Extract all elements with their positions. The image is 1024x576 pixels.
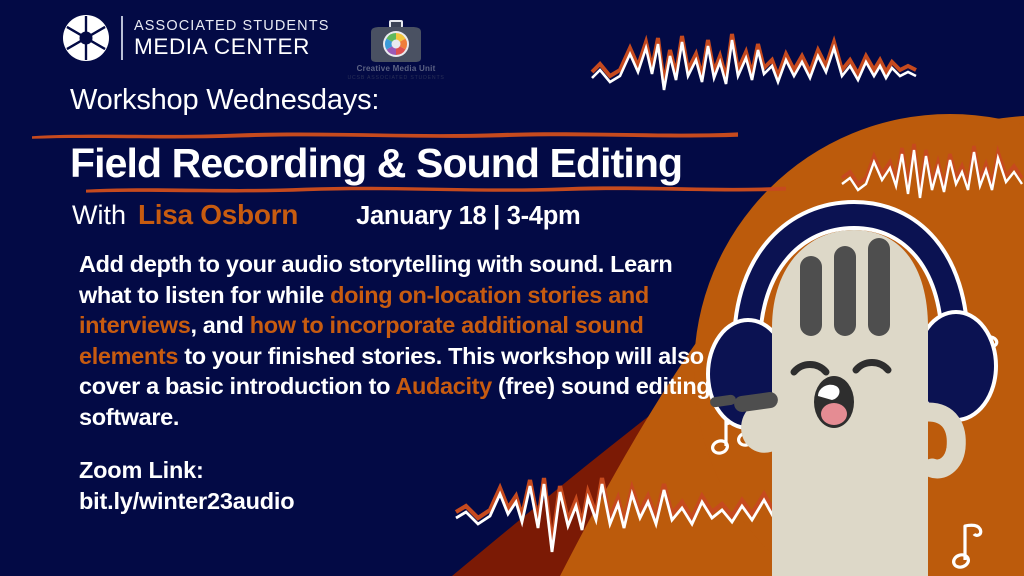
as-logo-line1: ASSOCIATED STUDENTS xyxy=(134,19,329,34)
presenter-row: With Lisa Osborn January 18 | 3-4pm xyxy=(72,199,580,231)
associated-students-logo: ASSOCIATED STUDENTS MEDIA CENTER xyxy=(62,14,329,62)
zoom-link-label: Zoom Link: xyxy=(79,455,294,486)
logo-divider xyxy=(121,16,123,60)
event-datetime: January 18 | 3-4pm xyxy=(356,202,580,231)
body-description: Add depth to your audio storytelling wit… xyxy=(79,249,719,432)
as-logo-text: ASSOCIATED STUDENTS MEDIA CENTER xyxy=(134,18,329,58)
kicker-text: Workshop Wednesdays: xyxy=(70,84,379,117)
mascot-mouth xyxy=(814,376,854,428)
header-logos: ASSOCIATED STUDENTS MEDIA CENTER xyxy=(62,14,445,81)
camera-bag-icon xyxy=(367,20,425,62)
singing-microphone-mascot xyxy=(706,196,1024,576)
body-segment-2: , and xyxy=(190,312,249,338)
zoom-link-block: Zoom Link: bit.ly/winter23audio xyxy=(79,455,294,517)
page-title: Field Recording & Sound Editing xyxy=(70,140,682,187)
zoom-link-url[interactable]: bit.ly/winter23audio xyxy=(79,486,294,517)
creative-media-unit-logo: Creative Media Unit UCSB ASSOCIATED STUD… xyxy=(347,20,444,81)
with-label: With xyxy=(72,200,126,231)
mascot-left-arm xyxy=(749,409,776,444)
mascot-right-arm xyxy=(928,412,956,469)
waveform-top-icon xyxy=(588,26,918,96)
camera-aperture-icon xyxy=(62,14,110,62)
body-segment-5: Audacity xyxy=(395,373,491,399)
flyer-canvas: ASSOCIATED STUDENTS MEDIA CENTER xyxy=(0,0,1024,576)
brush-stroke-bottom xyxy=(86,184,786,193)
brush-stroke-top xyxy=(32,130,738,139)
cmu-logo-subtitle: UCSB ASSOCIATED STUDENTS xyxy=(347,75,444,81)
presenter-name: Lisa Osborn xyxy=(138,199,298,231)
as-logo-line2: MEDIA CENTER xyxy=(134,36,329,59)
cmu-logo-name: Creative Media Unit xyxy=(357,64,436,73)
